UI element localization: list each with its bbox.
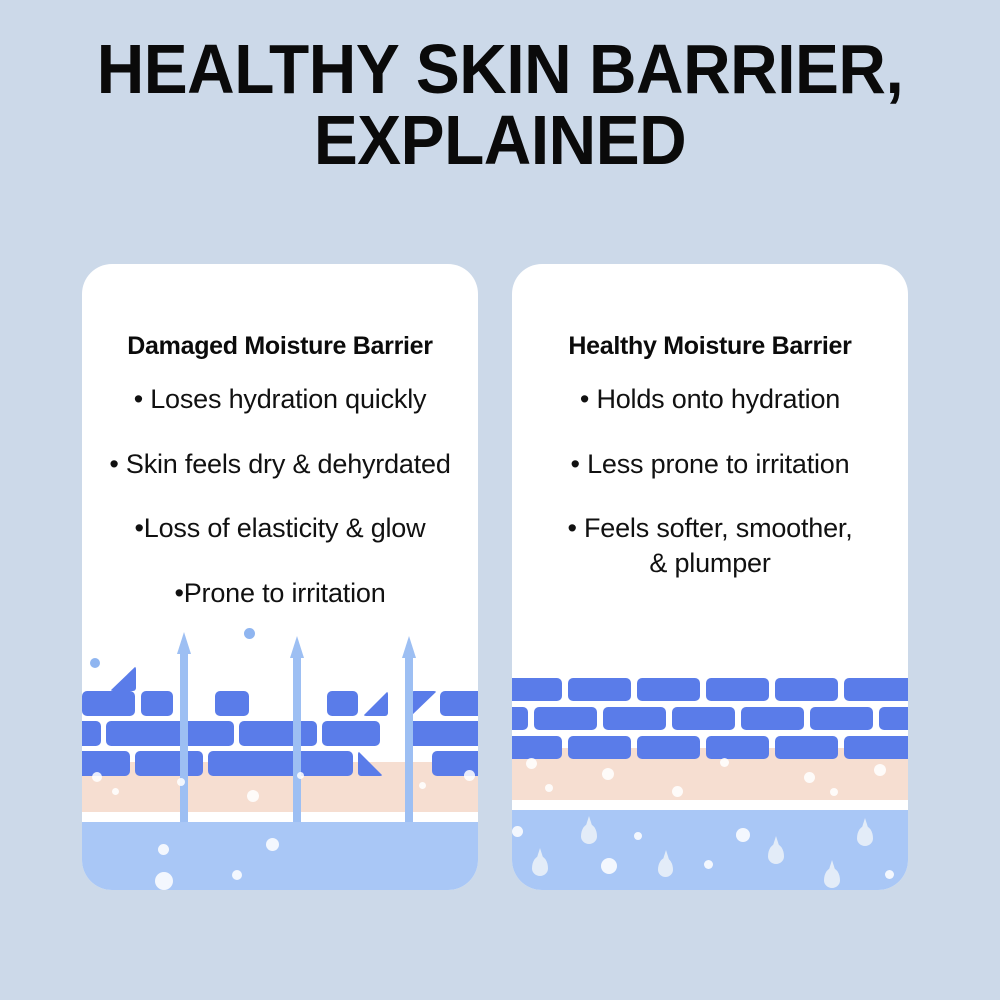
brick — [407, 721, 478, 746]
page-title: HEALTHY SKIN BARRIER, EXPLAINED — [30, 34, 970, 177]
layer-particle — [232, 870, 242, 880]
moisture-escape-arrow — [177, 632, 191, 822]
layer-particle — [92, 772, 102, 782]
brick — [637, 678, 700, 701]
layer-particle — [602, 768, 614, 780]
brick — [208, 751, 353, 776]
page-title-line-1: HEALTHY SKIN BARRIER, — [30, 34, 970, 105]
brick — [327, 691, 358, 716]
layer-particle — [526, 758, 537, 769]
list-item: • Feels softer, smoother, — [512, 511, 908, 546]
brick — [239, 721, 317, 746]
layer-particle — [464, 770, 475, 781]
list-item: • Skin feels dry & dehyrdated — [82, 447, 478, 482]
layer-particle — [885, 870, 894, 879]
layer-particle — [512, 826, 523, 837]
card-healthy-bullet-list: • Holds onto hydration • Less prone to i… — [512, 382, 908, 610]
moisture-dot — [244, 628, 255, 639]
brick — [810, 707, 873, 730]
layer-particle — [266, 838, 279, 851]
layer-particle — [874, 764, 886, 776]
brick — [568, 736, 631, 759]
brick-fragment — [363, 691, 388, 716]
layer-particle — [804, 772, 815, 783]
list-item: •Loss of elasticity & glow — [82, 511, 478, 546]
brick — [568, 678, 631, 701]
brick — [82, 721, 101, 746]
brick — [844, 736, 908, 759]
page-title-line-2: EXPLAINED — [30, 105, 970, 176]
brick — [106, 721, 234, 746]
brick — [672, 707, 735, 730]
card-damaged-title: Damaged Moisture Barrier — [82, 332, 478, 361]
moisture-dot — [90, 658, 100, 668]
brick — [82, 751, 130, 776]
layer-particle — [830, 788, 838, 796]
layer-particle — [601, 858, 617, 874]
damaged-skin-barrier-diagram — [82, 620, 478, 890]
brick-fragment — [110, 666, 136, 691]
layer-particle — [736, 828, 750, 842]
water-droplet-icon — [658, 858, 673, 877]
hydration-layer-water — [82, 822, 478, 890]
arrow-head-icon — [402, 636, 416, 658]
water-droplet-icon — [768, 844, 784, 864]
brick — [775, 678, 838, 701]
brick — [135, 751, 203, 776]
layer-particle — [672, 786, 683, 797]
water-droplet-icon — [532, 856, 548, 876]
card-damaged-moisture-barrier: Damaged Moisture Barrier • Loses hydrati… — [82, 264, 478, 890]
layer-particle — [155, 872, 173, 890]
layer-particle — [177, 778, 185, 786]
arrow-head-icon — [290, 636, 304, 658]
brick — [534, 707, 597, 730]
layer-particle — [419, 782, 426, 789]
card-damaged-bullet-list: • Loses hydration quickly • Skin feels d… — [82, 382, 478, 640]
layer-particle — [247, 790, 259, 802]
list-item: • Holds onto hydration — [512, 382, 908, 417]
brick — [141, 691, 173, 716]
hydration-layer-water — [512, 810, 908, 890]
layer-particle — [112, 788, 119, 795]
brick — [512, 707, 528, 730]
healthy-skin-barrier-diagram — [512, 620, 908, 890]
water-droplet-icon — [824, 868, 840, 888]
arrow-shaft — [180, 652, 188, 822]
layer-particle — [297, 772, 304, 779]
brick — [512, 736, 562, 759]
brick — [512, 678, 562, 701]
list-item: •Prone to irritation — [82, 576, 478, 611]
brick — [741, 707, 804, 730]
layer-particle — [158, 844, 169, 855]
layer-particle — [545, 784, 553, 792]
list-item: • Loses hydration quickly — [82, 382, 478, 417]
brick — [322, 721, 380, 746]
brick — [637, 736, 700, 759]
card-healthy-title: Healthy Moisture Barrier — [512, 332, 908, 361]
brick — [706, 678, 769, 701]
water-droplet-icon — [857, 826, 873, 846]
brick — [706, 736, 769, 759]
brick — [215, 691, 249, 716]
brick — [879, 707, 908, 730]
card-healthy-moisture-barrier: Healthy Moisture Barrier • Holds onto hy… — [512, 264, 908, 890]
layer-particle — [704, 860, 713, 869]
brick — [440, 691, 478, 716]
moisture-escape-arrow — [402, 636, 416, 822]
brick — [82, 691, 135, 716]
list-item: • Less prone to irritation — [512, 447, 908, 482]
layer-particle — [720, 758, 729, 767]
brick — [844, 678, 908, 701]
arrow-head-icon — [177, 632, 191, 654]
moisture-escape-arrow — [290, 636, 304, 822]
layer-particle — [634, 832, 642, 840]
water-droplet-icon — [581, 824, 597, 844]
arrow-shaft — [293, 656, 301, 822]
brick — [603, 707, 666, 730]
arrow-shaft — [405, 656, 413, 822]
list-item: & plumper — [512, 546, 908, 581]
brick — [775, 736, 838, 759]
